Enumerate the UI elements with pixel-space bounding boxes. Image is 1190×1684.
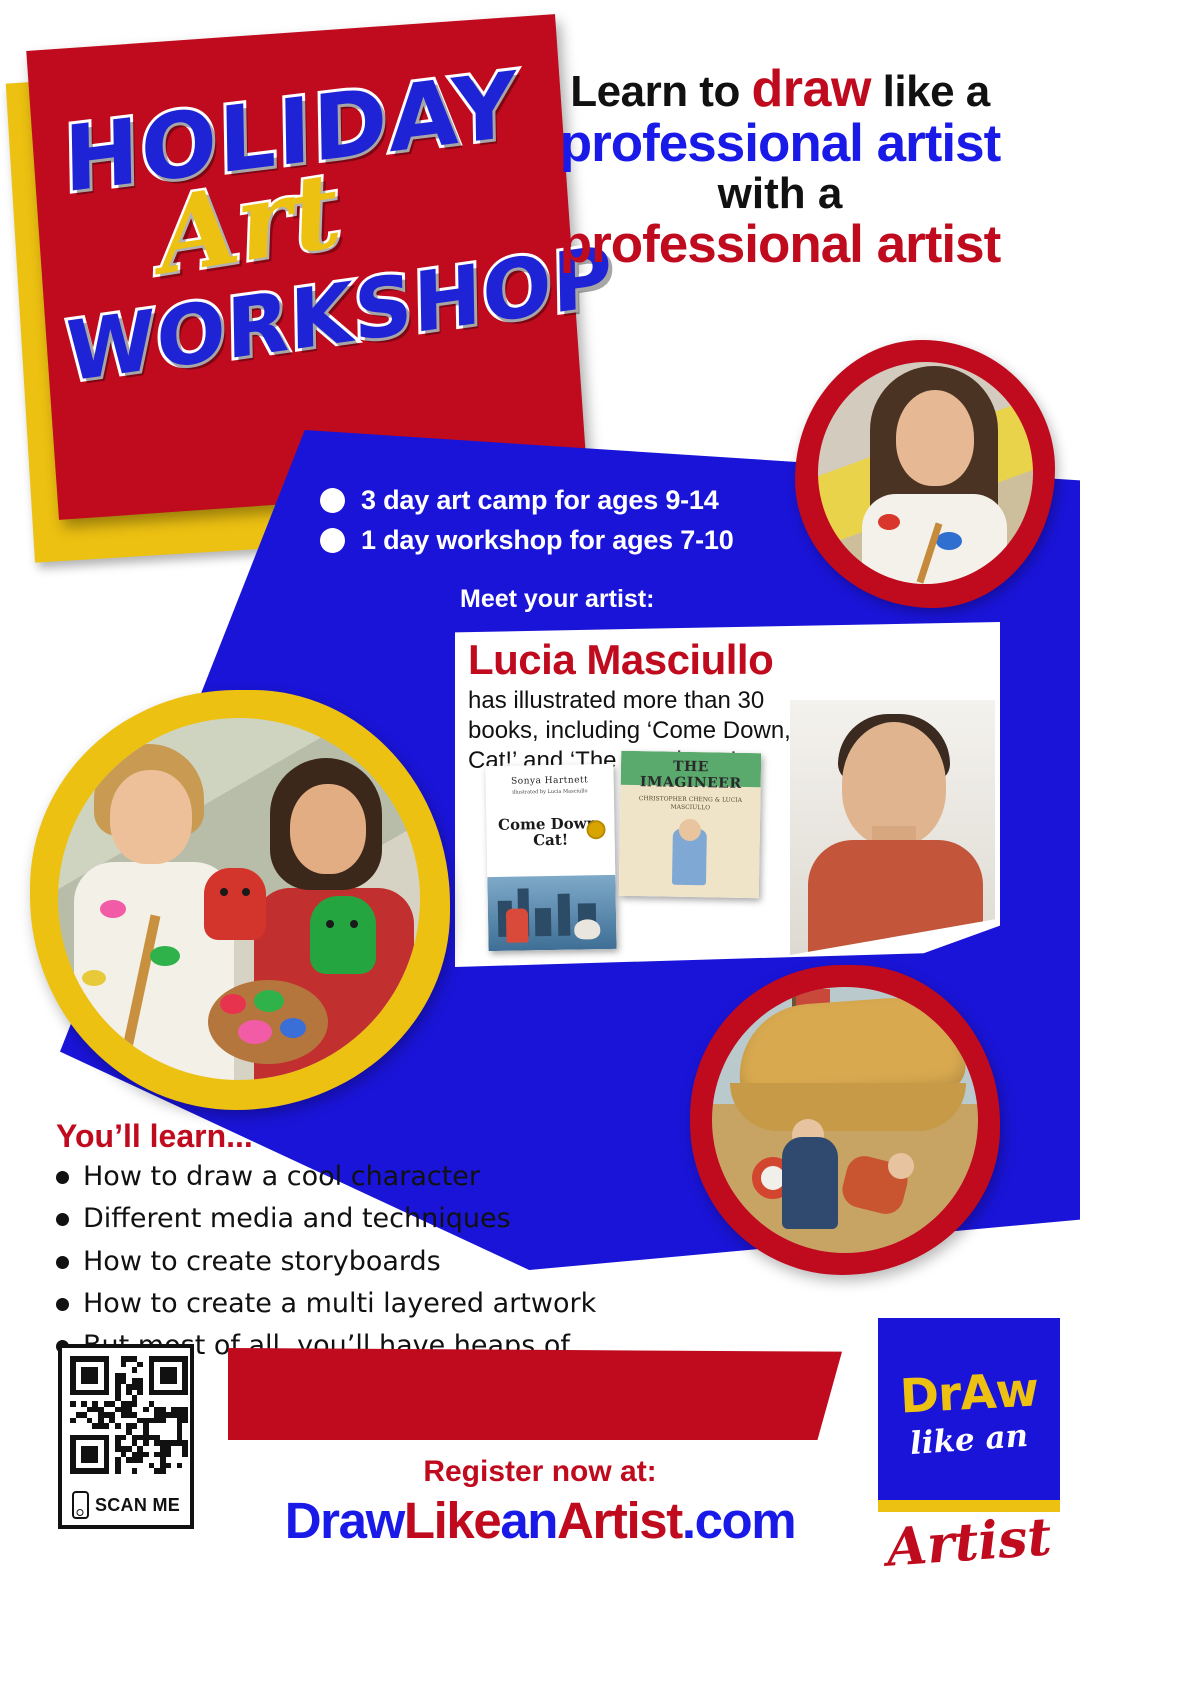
learn-item-label: How to draw a cool character [83, 1158, 480, 1196]
paint-blob [238, 1020, 272, 1044]
bullet-dot-icon [56, 1256, 69, 1269]
paint-splat-icon [878, 514, 900, 530]
face-shape [290, 784, 366, 874]
bullet-dot-icon [56, 1213, 69, 1226]
register-block: Register now at: DrawLikeanArtist.com [230, 1455, 850, 1550]
paint-blob [280, 1018, 306, 1038]
girl-with-paintbrush-photo [818, 362, 1033, 584]
scan-me-row: SCAN ME [62, 1491, 190, 1519]
figure-shape [782, 1137, 838, 1229]
website-url[interactable]: DrawLikeanArtist.com [230, 1491, 850, 1550]
headline-line-1: Learn to draw like a [470, 62, 1090, 116]
paint-blob [82, 970, 106, 986]
brand-draw-word: DrAw [877, 1361, 1062, 1425]
list-item: Different media and techniques [56, 1200, 616, 1238]
smiley-eye-icon [326, 920, 334, 928]
list-item: How to create storyboards [56, 1243, 616, 1281]
scan-me-label: SCAN ME [95, 1495, 180, 1516]
brand-logo-panel: DrAw like an [878, 1318, 1060, 1500]
book-cover-the-imagineer: THE IMAGINEER CHRISTOPHER CHENG & LUCIA … [619, 751, 762, 898]
face-shape [896, 390, 974, 486]
smiley-eye-icon [242, 888, 250, 896]
book-title: THE IMAGINEER [621, 758, 762, 792]
head-shape [888, 1153, 914, 1179]
artist-portrait-photo [790, 700, 995, 955]
list-item: How to create a multi layered artwork [56, 1285, 616, 1323]
url-part-like: Like [404, 1492, 500, 1549]
book-cover-come-down-cat: Sonya Hartnett illustrated by Lucia Masc… [485, 764, 616, 951]
boy-figure [506, 908, 529, 942]
url-part-com: .com [682, 1492, 795, 1549]
paint-palette [208, 980, 328, 1064]
painted-hand-red [204, 868, 266, 940]
list-item: How to draw a cool character [56, 1158, 616, 1196]
red-banner-strip [228, 1348, 842, 1440]
url-part-draw: Draw [285, 1492, 404, 1549]
bullet-dot-icon [320, 488, 345, 513]
cat-figure [574, 919, 600, 939]
bullet-dot-icon [320, 528, 345, 553]
register-label: Register now at: [230, 1455, 850, 1489]
smiley-eye-icon [350, 920, 358, 928]
paint-blob [254, 990, 284, 1012]
smiley-eye-icon [220, 888, 228, 896]
offering-label: 1 day workshop for ages 7-10 [361, 525, 734, 556]
kids-painting-photo [58, 718, 420, 1080]
bullet-dot-icon [56, 1171, 69, 1184]
learn-item-label: How to create storyboards [83, 1243, 441, 1281]
offering-label: 3 day art camp for ages 9-14 [361, 485, 719, 516]
list-item: 1 day workshop for ages 7-10 [320, 525, 840, 556]
headline: Learn to draw like a professional artist… [470, 62, 1090, 272]
building-shape [535, 908, 551, 936]
learn-section-title: You’ll learn... [56, 1118, 253, 1155]
paint-blob [100, 900, 126, 918]
url-part-an: an [500, 1492, 557, 1549]
phone-icon [72, 1491, 89, 1519]
headline-draw-word: draw [752, 60, 871, 118]
hull-shape [730, 1083, 966, 1131]
paint-splat-icon [936, 532, 962, 550]
artist-name: Lucia Masciullo [468, 636, 773, 684]
learn-item-label: How to create a multi layered artwork [83, 1285, 596, 1323]
url-part-artist: Artist [557, 1492, 682, 1549]
brand-artist-word: Artist [876, 1506, 1062, 1580]
meet-artist-label: Meet your artist: [460, 585, 654, 614]
paint-blob [220, 994, 246, 1014]
face-shape [110, 770, 192, 864]
headline-line-3: with a [470, 171, 1090, 217]
painted-hand-green [310, 896, 376, 974]
headline-line-2: professional artist [470, 116, 1090, 171]
list-item: 3 day art camp for ages 9-14 [320, 485, 840, 516]
bullet-dot-icon [56, 1298, 69, 1311]
headline-line-4: professional artist [470, 217, 1090, 272]
learn-item-label: Different media and techniques [83, 1200, 511, 1238]
book-credits: CHRISTOPHER CHENG & LUCIA MASCIULLO [620, 795, 760, 814]
headline-like-a: like a [871, 67, 990, 116]
headline-learn-to: Learn to [570, 67, 751, 116]
building-shape [558, 894, 571, 936]
qr-code-box[interactable]: SCAN ME [58, 1344, 194, 1529]
boat-illustration [712, 987, 978, 1253]
qr-code-image [70, 1356, 188, 1474]
offerings-list: 3 day art camp for ages 9-14 1 day works… [320, 485, 840, 565]
paint-blob [150, 946, 180, 966]
